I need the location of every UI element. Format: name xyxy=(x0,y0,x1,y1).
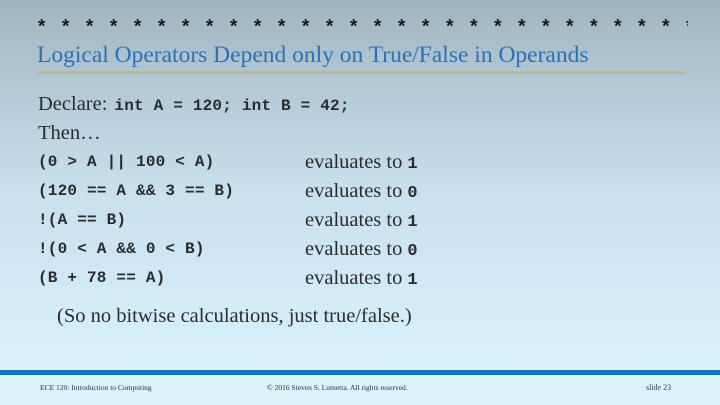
expression-row: (B + 78 == A) evaluates to1 xyxy=(0,264,720,293)
expression-text: !(0 < A && 0 < B) xyxy=(38,235,205,264)
expression-row: !(0 < A && 0 < B) evaluates to0 xyxy=(0,235,720,264)
page-title: Logical Operators Depend only on True/Fa… xyxy=(37,41,697,69)
evaluates-label: evaluates to xyxy=(305,151,402,173)
evaluates-label: evaluates to xyxy=(305,238,402,260)
result-value: 1 xyxy=(407,213,417,232)
declare-code: int A = 120; int B = 42; xyxy=(114,97,349,115)
result-value: 0 xyxy=(407,184,417,203)
slide: * * * * * * * * * * * * * * * * * * * * … xyxy=(0,0,720,405)
result-value: 1 xyxy=(407,271,417,290)
evaluates-label: evaluates to xyxy=(305,209,402,231)
expression-result: evaluates to1 xyxy=(305,148,418,179)
expression-result: evaluates to0 xyxy=(305,235,418,266)
footer-course-label: ECE 120: Introduction to Computing xyxy=(40,383,152,392)
footer-copyright: © 2016 Steven S. Lumetta. All rights res… xyxy=(267,383,408,392)
result-value: 0 xyxy=(407,242,417,261)
expression-row: !(A == B) evaluates to1 xyxy=(0,206,720,235)
expression-row: (120 == A && 3 == B) evaluates to0 xyxy=(0,177,720,206)
title-underline xyxy=(37,71,685,74)
slide-body: Declare:int A = 120; int B = 42; Then… (… xyxy=(0,90,720,331)
expression-result: evaluates to1 xyxy=(305,264,418,295)
expression-text: (B + 78 == A) xyxy=(38,264,165,293)
slide-number: slide 23 xyxy=(646,383,671,392)
expression-text: (120 == A && 3 == B) xyxy=(38,177,234,206)
star-divider: * * * * * * * * * * * * * * * * * * * * … xyxy=(36,17,688,39)
expression-row: (0 > A || 100 < A) evaluates to1 xyxy=(0,148,720,177)
expression-result: evaluates to0 xyxy=(305,177,418,208)
expression-text: !(A == B) xyxy=(38,206,126,235)
evaluates-label: evaluates to xyxy=(305,267,402,289)
expression-text: (0 > A || 100 < A) xyxy=(38,148,214,177)
evaluates-label: evaluates to xyxy=(305,180,402,202)
summary-note: (So no bitwise calculations, just true/f… xyxy=(0,302,720,331)
then-label: Then… xyxy=(0,119,720,148)
declare-label: Declare: xyxy=(38,93,107,115)
result-value: 1 xyxy=(407,155,417,174)
expression-result: evaluates to1 xyxy=(305,206,418,237)
declare-line: Declare:int A = 120; int B = 42; xyxy=(0,90,720,119)
